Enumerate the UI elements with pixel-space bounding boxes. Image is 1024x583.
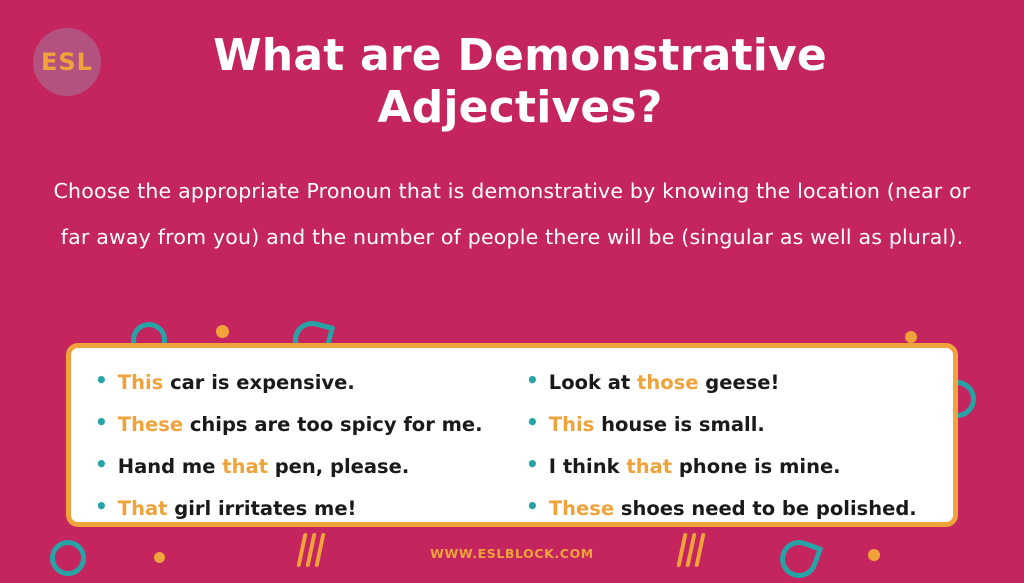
list-item-prefix: Hand me [118,455,222,478]
bullet-icon: • [95,454,108,474]
page-title: What are Demonstrative Adjectives? [150,30,890,134]
list-item-text: chips are too spicy for me. [183,413,483,436]
list-item-keyword: that [626,455,672,478]
list-item-keyword: That [118,497,168,520]
esl-logo-text: ESL [41,48,93,76]
list-item: • This house is small. [526,406,939,444]
list-item-text: pen, please. [268,455,409,478]
bullet-icon: • [526,412,539,432]
list-item-text: phone is mine. [672,455,841,478]
bullet-icon: • [526,496,539,516]
list-item-text: girl irritates me! [167,497,356,520]
bullet-icon: • [526,454,539,474]
list-item-keyword: those [637,371,698,394]
esl-logo: ESL [33,28,101,96]
list-item: • That girl irritates me! [95,490,508,528]
list-item-keyword: This [549,413,594,436]
list-item-prefix: I think [549,455,627,478]
list-item: • Hand me that pen, please. [95,448,508,486]
examples-column-right: • Look at those geese! • This house is s… [508,364,939,506]
list-item: • This car is expensive. [95,364,508,402]
list-item: • I think that phone is mine. [526,448,939,486]
list-item-keyword: These [118,413,183,436]
list-item: • These shoes need to be polished. [526,490,939,528]
list-item: • These chips are too spicy for me. [95,406,508,444]
list-item-text: shoes need to be polished. [614,497,917,520]
list-item-keyword: that [222,455,268,478]
bullet-icon: • [95,496,108,516]
examples-column-left: • This car is expensive. • These chips a… [95,364,508,506]
list-item-text: house is small. [594,413,765,436]
list-item-text: car is expensive. [163,371,355,394]
dot-icon [905,331,917,343]
dot-icon [216,325,229,338]
list-item-text: geese! [698,371,779,394]
examples-card: • This car is expensive. • These chips a… [66,343,958,527]
footer-url: WWW.ESLBLOCK.COM [0,546,1024,561]
list-item-keyword: This [118,371,163,394]
bullet-icon: • [95,412,108,432]
bullet-icon: • [95,370,108,390]
bullet-icon: • [526,370,539,390]
list-item: • Look at those geese! [526,364,939,402]
list-item-prefix: Look at [549,371,637,394]
intro-paragraph: Choose the appropriate Pronoun that is d… [48,168,976,260]
list-item-keyword: These [549,497,614,520]
